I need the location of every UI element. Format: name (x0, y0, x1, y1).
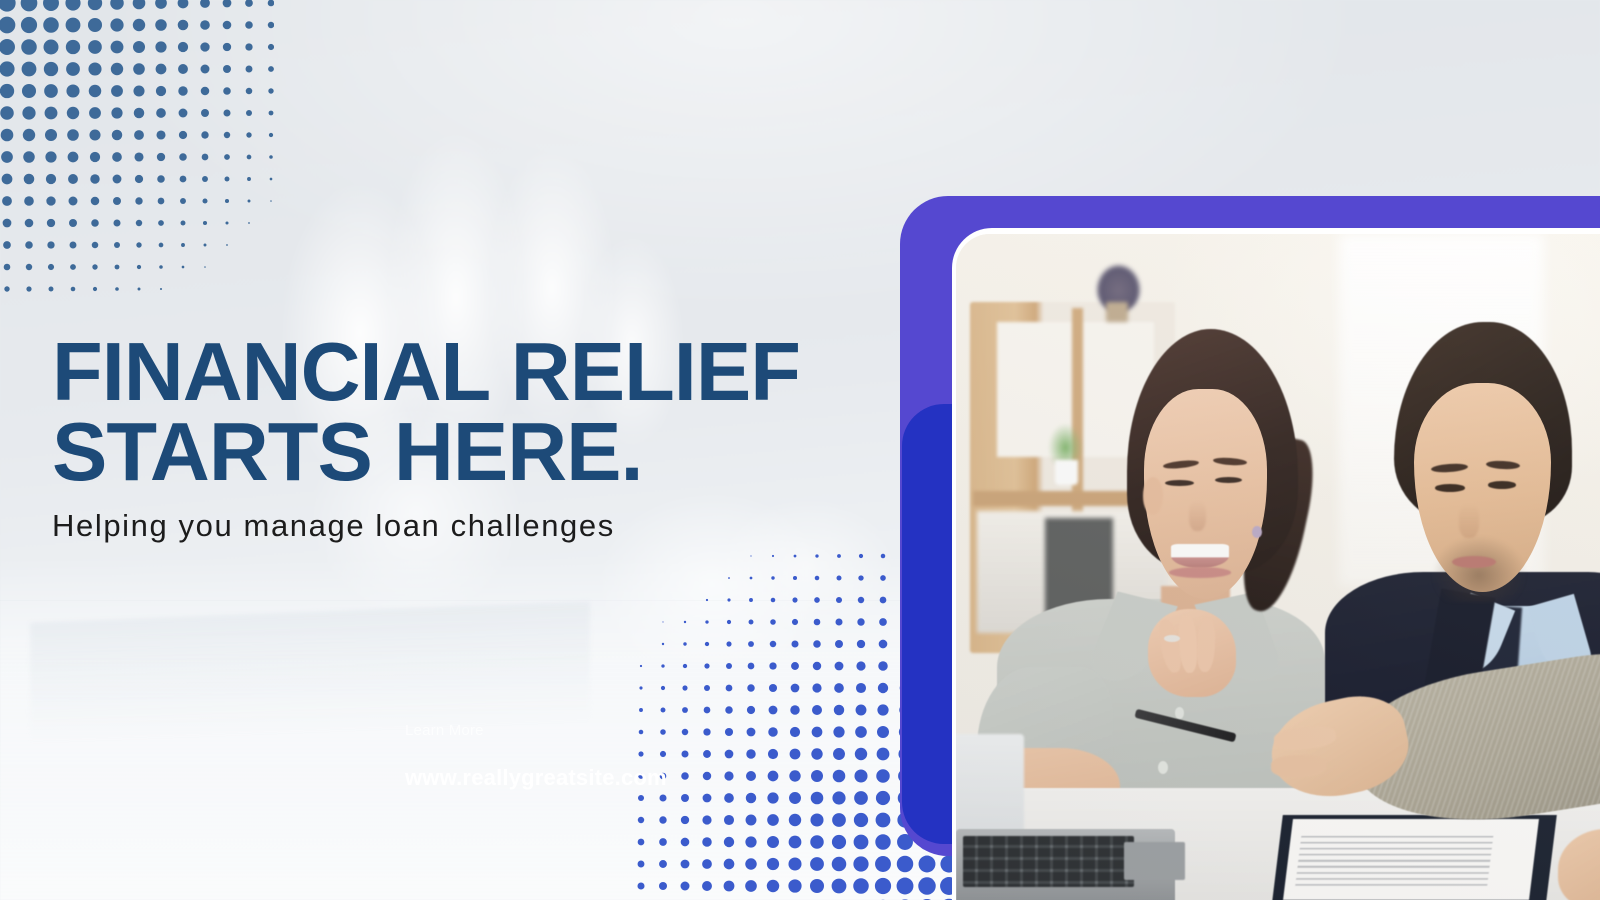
photo-woman-lower-lip (1169, 567, 1231, 578)
headline-block: FINANCIAL RELIEF STARTS HERE. Helping yo… (52, 332, 852, 544)
photo-man-eye-left (1435, 484, 1465, 491)
photo-plant-shelf (1048, 423, 1082, 464)
financial-relief-banner: FINANCIAL RELIEF STARTS HERE. Helping yo… (0, 0, 1600, 900)
photo-man-beard (1431, 535, 1527, 603)
photo-laptop-trackpad (1124, 842, 1186, 879)
photo-client-finger-2 (1270, 754, 1325, 778)
photo-plant-top-pot (1106, 302, 1128, 322)
page-subtitle: Helping you manage loan challenges (52, 508, 852, 544)
photo-laptop-screen (956, 734, 1024, 842)
photo-woman-nose (1189, 501, 1207, 531)
photo-man-nose (1459, 504, 1480, 538)
photo-laptop-keyboard (963, 836, 1134, 887)
photo-woman-button-1 (1158, 761, 1168, 774)
photo-woman-smile (1171, 544, 1228, 568)
photo-document-text-lines (1295, 836, 1493, 890)
advisor-meeting-photo (956, 234, 1600, 900)
photo-card (900, 196, 1600, 900)
photo-plant-shelf-pot (1055, 460, 1078, 484)
photo-man-eye-right (1488, 481, 1515, 488)
website-url[interactable]: www.reallygreatsite.com (405, 765, 667, 791)
page-title: FINANCIAL RELIEF STARTS HERE. (52, 332, 852, 491)
learn-more-link[interactable]: Learn More (405, 722, 667, 739)
photo-man-mouth (1452, 556, 1496, 568)
cta-block: Learn More www.reallygreatsite.com (405, 722, 667, 791)
